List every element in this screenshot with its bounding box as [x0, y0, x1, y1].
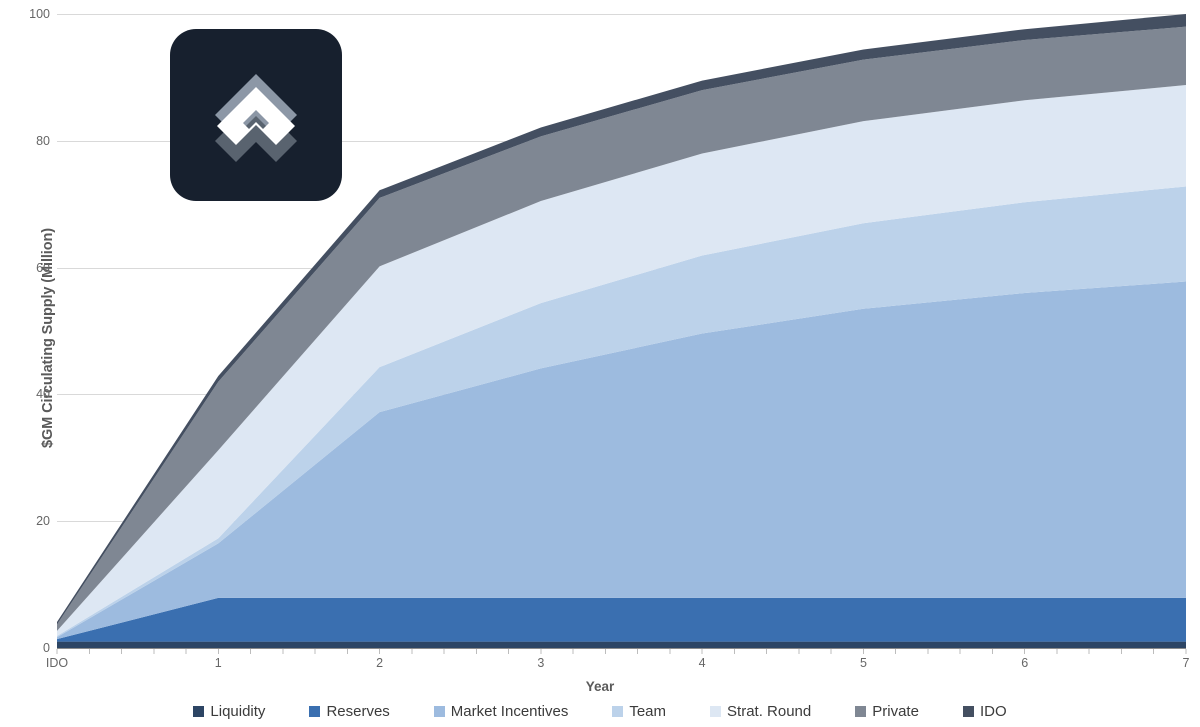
legend-item-strat-round[interactable]: Strat. Round [710, 703, 811, 720]
legend-label: Liquidity [210, 703, 265, 720]
legend-swatch-icon [963, 706, 974, 717]
legend-label: IDO [980, 703, 1007, 720]
x-axis-minor-ticks [57, 649, 1186, 654]
area-band-reserves [57, 598, 1186, 642]
area-band-liquidity [57, 642, 1186, 648]
x-tick-6: 6 [1021, 656, 1028, 670]
legend-item-liquidity[interactable]: Liquidity [193, 703, 265, 720]
legend-swatch-icon [855, 706, 866, 717]
legend-label: Team [629, 703, 666, 720]
gm-brand-logo [170, 29, 342, 201]
legend-swatch-icon [612, 706, 623, 717]
legend-swatch-icon [193, 706, 204, 717]
legend-label: Market Incentives [451, 703, 569, 720]
legend-label: Private [872, 703, 919, 720]
x-tick-1: 1 [215, 656, 222, 670]
x-tick-2: 2 [376, 656, 383, 670]
legend-item-market-incentives[interactable]: Market Incentives [434, 703, 569, 720]
stacked-area-chart: $GM Circulating Supply (Million) 0 20 40… [0, 0, 1200, 727]
x-tick-ido: IDO [46, 656, 68, 670]
legend-swatch-icon [434, 706, 445, 717]
x-axis-title: Year [0, 679, 1200, 694]
x-tick-5: 5 [860, 656, 867, 670]
x-tick-3: 3 [537, 656, 544, 670]
legend-swatch-icon [710, 706, 721, 717]
legend-item-team[interactable]: Team [612, 703, 666, 720]
legend-item-ido[interactable]: IDO [963, 703, 1007, 720]
legend-label: Reserves [326, 703, 389, 720]
x-tick-7: 7 [1183, 656, 1190, 670]
legend-swatch-icon [309, 706, 320, 717]
legend-item-private[interactable]: Private [855, 703, 919, 720]
x-tick-4: 4 [699, 656, 706, 670]
gm-logo-mark [197, 56, 315, 174]
legend-label: Strat. Round [727, 703, 811, 720]
chart-legend: LiquidityReservesMarket IncentivesTeamSt… [0, 703, 1200, 720]
legend-item-reserves[interactable]: Reserves [309, 703, 389, 720]
